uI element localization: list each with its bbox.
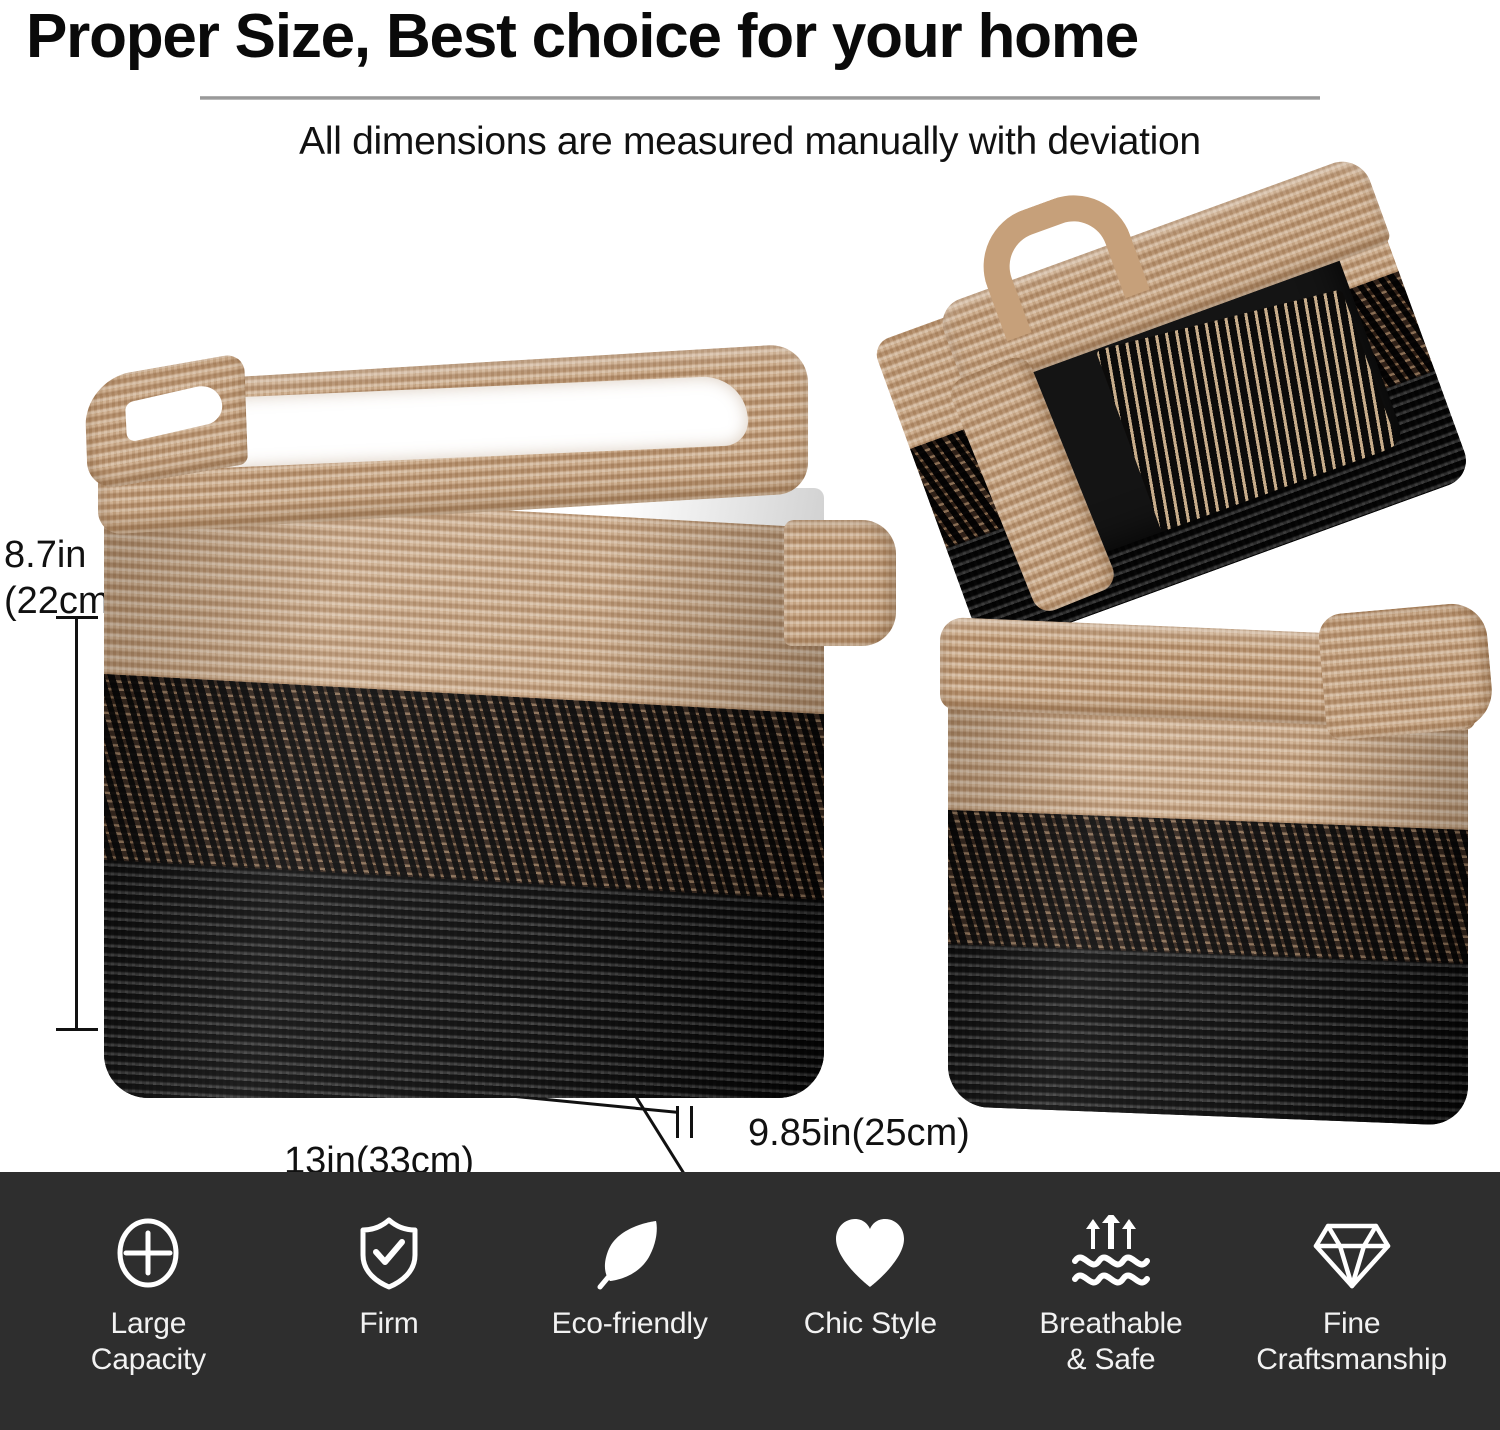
dimension-height-line: [75, 618, 78, 1030]
product-photo: 8.7in (22cm) 13in(33cm) 9.85in(25cm): [0, 190, 1500, 1175]
feature-large-capacity: Large Capacity: [48, 1172, 248, 1378]
basket-handle-right: [784, 520, 896, 646]
basket-handle-right: [1317, 601, 1495, 741]
feature-label: Fine Craftsmanship: [1256, 1306, 1447, 1378]
leaf-icon: [594, 1214, 666, 1292]
feature-label: Firm: [359, 1306, 418, 1342]
page-title: Proper Size, Best choice for your home: [26, 0, 1476, 76]
circle-plus-icon: [113, 1214, 183, 1292]
header-divider: [200, 96, 1320, 100]
heart-icon: [832, 1214, 908, 1292]
dimension-depth-label: 9.85in(25cm): [748, 1110, 970, 1156]
feature-label: Breathable & Safe: [1039, 1306, 1182, 1378]
feature-firm: Firm: [289, 1172, 489, 1342]
feature-list: Large Capacity Firm Ec: [0, 1172, 1500, 1430]
diamond-icon: [1312, 1214, 1392, 1292]
feature-bar: Large Capacity Firm Ec: [0, 1172, 1500, 1430]
feature-label: Chic Style: [804, 1306, 937, 1342]
rope-band-black: [948, 944, 1468, 1126]
dimension-width-cap-right: [676, 1106, 679, 1138]
breathable-waves-icon: [1065, 1214, 1157, 1292]
rope-band-black: [104, 860, 824, 1098]
basket-large: [78, 340, 908, 1130]
basket-large-body: [104, 488, 824, 1098]
feature-label: Large Capacity: [91, 1306, 206, 1378]
feature-breathable-safe: Breathable & Safe: [1011, 1172, 1211, 1378]
dimension-depth-cap-bottom: [690, 1106, 693, 1138]
dimension-height-cap-bottom: [56, 1028, 98, 1031]
infographic-canvas: Proper Size, Best choice for your home A…: [0, 0, 1500, 1430]
basket-small-bottom: [930, 570, 1490, 1130]
dimension-height-cap-top: [56, 616, 98, 619]
page-subtitle: All dimensions are measured manually wit…: [0, 120, 1500, 164]
feature-eco-friendly: Eco-friendly: [530, 1172, 730, 1342]
feature-chic-style: Chic Style: [770, 1172, 970, 1342]
rope-band-speckle: [948, 810, 1468, 970]
feature-fine-craftsmanship: Fine Craftsmanship: [1252, 1172, 1452, 1378]
shield-check-icon: [355, 1214, 423, 1292]
feature-label: Eco-friendly: [552, 1306, 708, 1342]
